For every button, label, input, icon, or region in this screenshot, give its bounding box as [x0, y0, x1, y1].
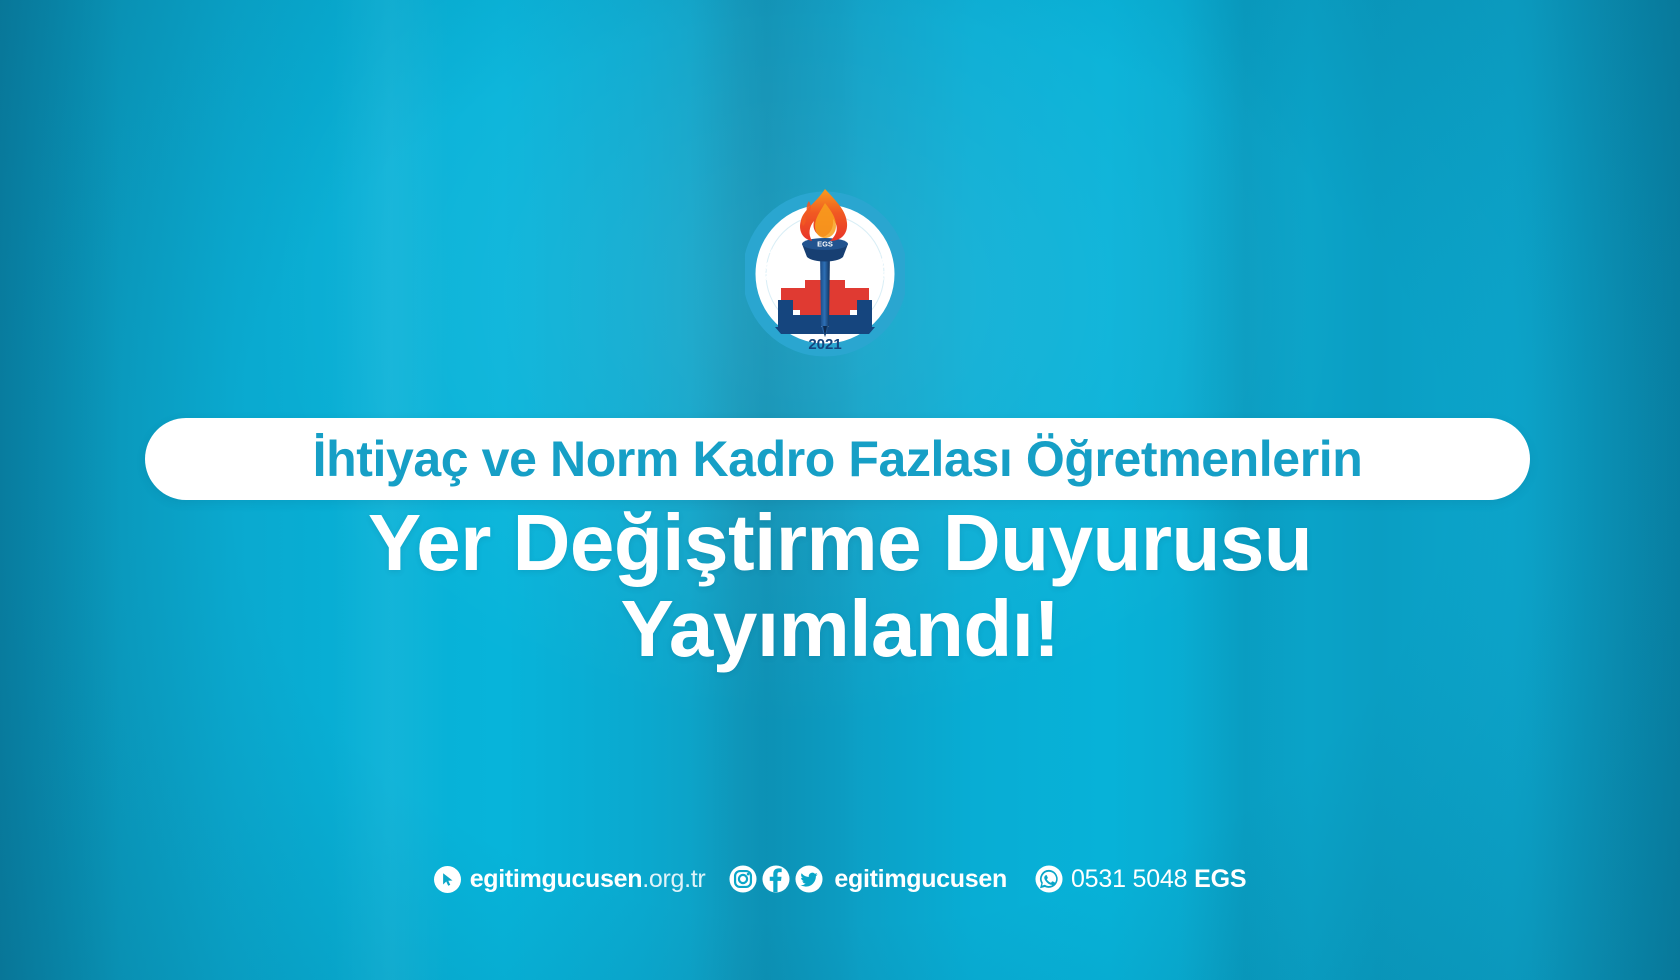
social-group[interactable]: egitimgucusen — [729, 865, 1007, 894]
website-group[interactable]: egitimgucusen .org.tr — [434, 865, 706, 894]
headline-line-1: Yer Değiştirme Duyurusu — [0, 500, 1680, 586]
twitter-icon[interactable] — [795, 865, 823, 893]
phone-number: 0531 5048 EGS — [1071, 865, 1246, 894]
headline-line-2: Yayımlandı! — [0, 586, 1680, 672]
whatsapp-group[interactable]: 0531 5048 EGS — [1035, 865, 1246, 894]
website-name: egitimgucusen — [470, 865, 643, 894]
subtitle-text: İhtiyaç ve Norm Kadro Fazlası Öğretmenle… — [313, 434, 1363, 484]
bg-band-right — [1530, 0, 1680, 980]
subtitle-pill: İhtiyaç ve Norm Kadro Fazlası Öğretmenle… — [145, 418, 1530, 500]
poster-canvas: EĞİTİM GÜCÜ SEN Eğitim ve Bilim Gücü Day… — [0, 0, 1680, 980]
website-tld: .org.tr — [642, 865, 705, 894]
footer-bar: egitimgucusen .org.tr egitimgucusen — [0, 858, 1680, 900]
bg-band-left — [0, 0, 120, 980]
instagram-icon[interactable] — [729, 865, 757, 893]
phone-digits: 0531 5048 — [1071, 865, 1187, 893]
social-handle: egitimgucusen — [834, 865, 1007, 894]
whatsapp-icon[interactable] — [1035, 865, 1063, 893]
organization-logo: EĞİTİM GÜCÜ SEN Eğitim ve Bilim Gücü Day… — [745, 181, 905, 367]
cursor-arrow-icon — [434, 866, 461, 893]
logo-year: 2021 — [808, 336, 841, 353]
main-headline: Yer Değiştirme Duyurusu Yayımlandı! — [0, 500, 1680, 673]
facebook-icon[interactable] — [762, 865, 790, 893]
phone-suffix: EGS — [1194, 865, 1246, 893]
